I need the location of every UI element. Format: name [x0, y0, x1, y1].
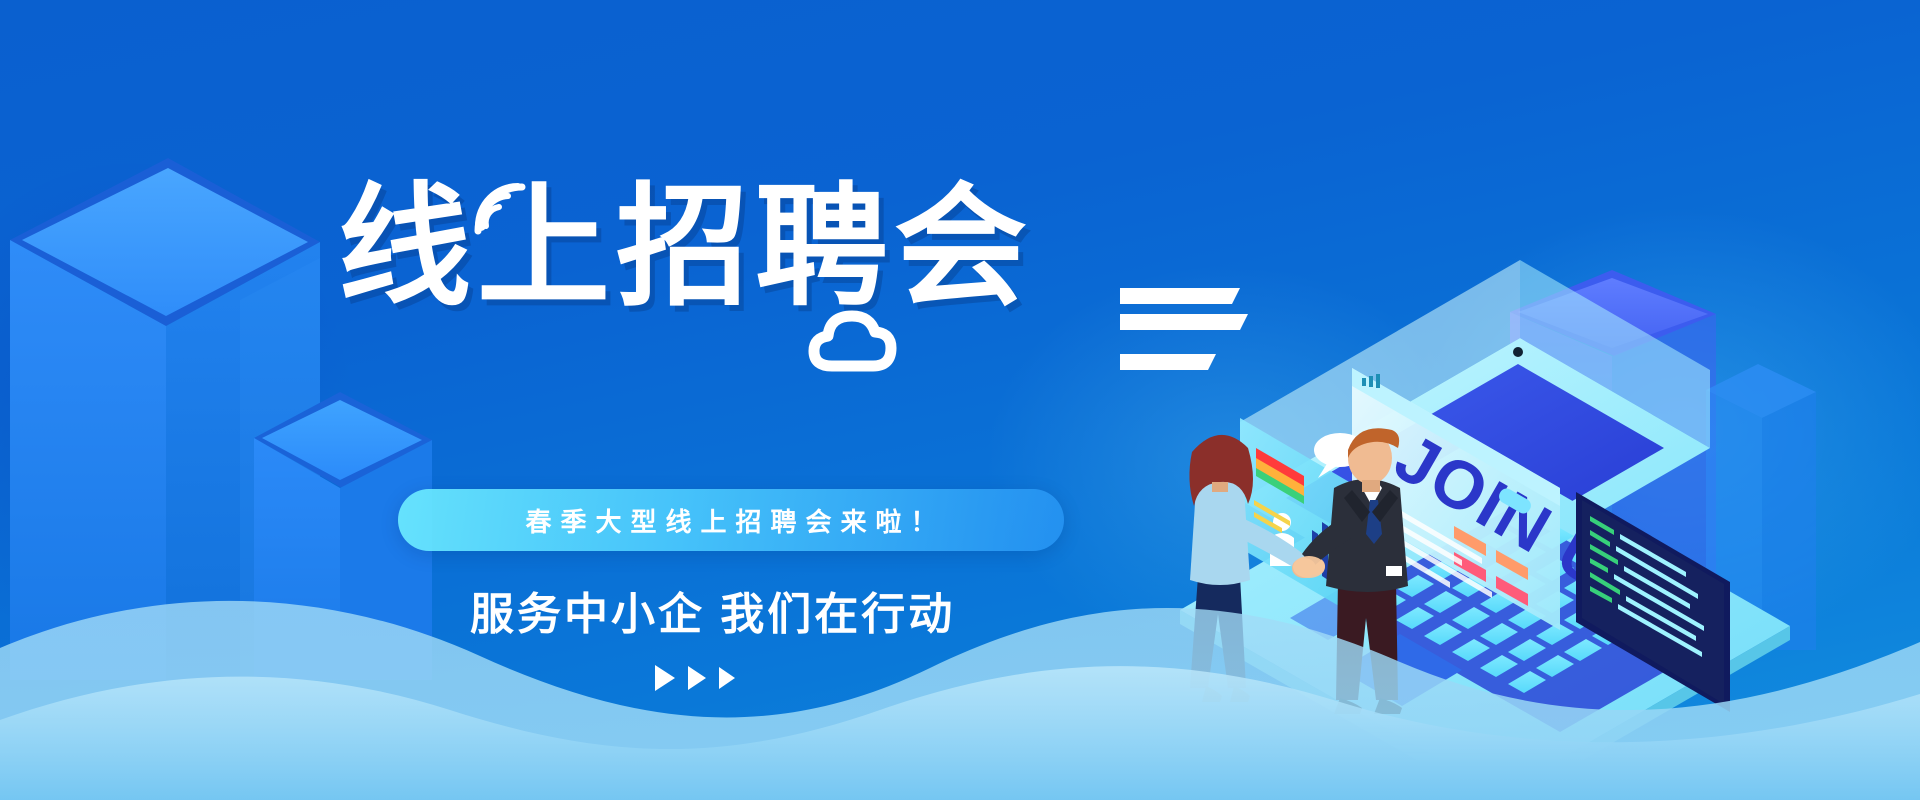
wifi-icon — [468, 176, 530, 238]
wave-decoration — [0, 570, 1920, 800]
online-recruitment-banner: JOIN US — [0, 0, 1920, 800]
cloud-icon — [806, 300, 910, 372]
announcement-pill: 春季大型线上招聘会来啦！ — [398, 489, 1064, 551]
announcement-pill-text: 春季大型线上招聘会来啦！ — [516, 502, 945, 539]
decor-white-bars — [1120, 270, 1320, 410]
page-title: 线上招聘会 — [338, 182, 1033, 315]
